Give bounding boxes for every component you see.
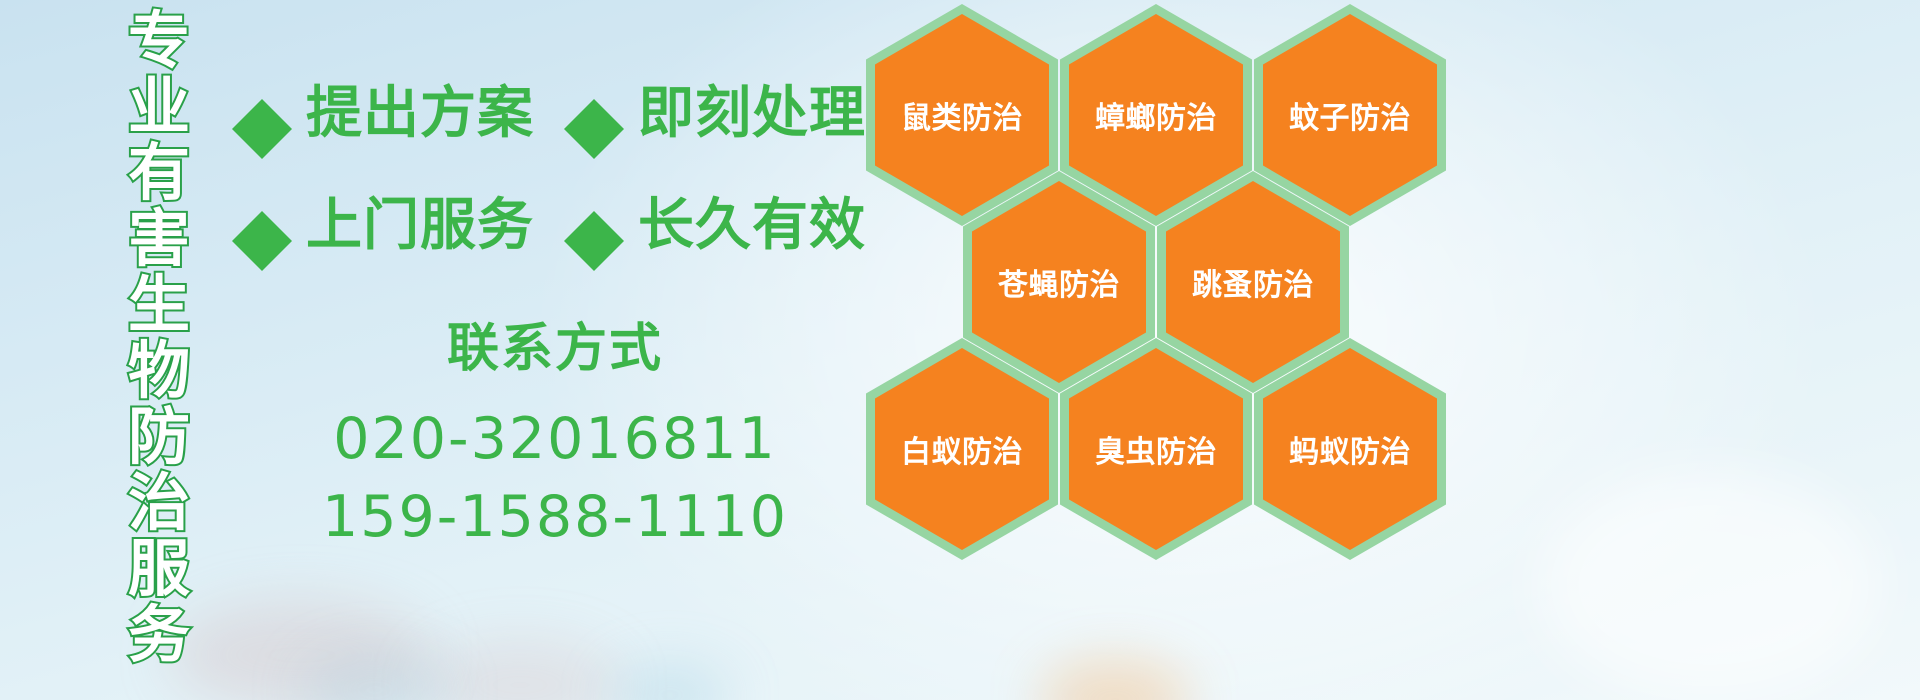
feature-item: 即刻处理 xyxy=(564,84,866,144)
diamond-bullet-icon xyxy=(564,69,624,129)
service-label: 白蚁防治 xyxy=(901,427,1023,471)
vertical-headline-char: 专 xyxy=(128,8,190,74)
feature-row: 提出方案 即刻处理 xyxy=(232,84,866,144)
feature-label: 长久有效 xyxy=(638,196,866,256)
service-label: 蟑螂防治 xyxy=(1095,93,1217,137)
feature-row: 上门服务 长久有效 xyxy=(232,196,866,256)
vertical-headline-char: 服 xyxy=(128,536,190,602)
pest-control-banner: 专 业 有 害 生 物 防 治 服 务 提出方案 即刻处理 上门服务 长久有效 xyxy=(0,0,1920,700)
feature-label: 即刻处理 xyxy=(638,84,866,144)
feature-label: 上门服务 xyxy=(306,196,534,256)
vertical-headline-char: 业 xyxy=(128,74,190,140)
vertical-headline-char: 防 xyxy=(128,404,190,470)
feature-item: 长久有效 xyxy=(564,196,866,256)
feature-item: 上门服务 xyxy=(232,196,534,256)
background-blob xyxy=(300,655,450,700)
vertical-headline-char: 治 xyxy=(128,470,190,536)
background-glow xyxy=(1540,470,1880,700)
diamond-bullet-icon xyxy=(232,69,292,129)
vertical-headline-char: 有 xyxy=(128,140,190,206)
background-blob xyxy=(420,640,620,700)
vertical-headline: 专 业 有 害 生 物 防 治 服 务 xyxy=(104,8,214,688)
background-blob xyxy=(610,665,730,700)
service-label: 跳蚤防治 xyxy=(1192,260,1314,304)
service-honeycomb: 鼠类防治 蟑螂防治 蚊子防治 苍蝇防治 跳蚤防治 白蚁防治 臭虫防治 蚂蚁防治 xyxy=(858,0,1458,554)
phone-number-mobile[interactable]: 159-1588-1110 xyxy=(260,478,850,556)
service-label: 鼠类防治 xyxy=(901,93,1023,137)
service-label: 蚊子防治 xyxy=(1289,93,1411,137)
contact-block: 联系方式 020-32016811 159-1588-1110 xyxy=(260,318,850,556)
diamond-bullet-icon xyxy=(564,181,624,241)
service-label: 苍蝇防治 xyxy=(998,260,1120,304)
contact-title: 联系方式 xyxy=(260,318,850,380)
vertical-headline-char: 物 xyxy=(128,338,190,404)
feature-item: 提出方案 xyxy=(232,84,534,144)
vertical-headline-char: 务 xyxy=(128,602,190,668)
service-label: 蚂蚁防治 xyxy=(1289,427,1411,471)
vertical-headline-char: 害 xyxy=(128,206,190,272)
diamond-bullet-icon xyxy=(232,181,292,241)
phone-number-landline[interactable]: 020-32016811 xyxy=(260,400,850,478)
vertical-headline-char: 生 xyxy=(128,272,190,338)
feature-label: 提出方案 xyxy=(306,84,534,144)
service-label: 臭虫防治 xyxy=(1095,427,1217,471)
background-blob xyxy=(1040,660,1190,700)
